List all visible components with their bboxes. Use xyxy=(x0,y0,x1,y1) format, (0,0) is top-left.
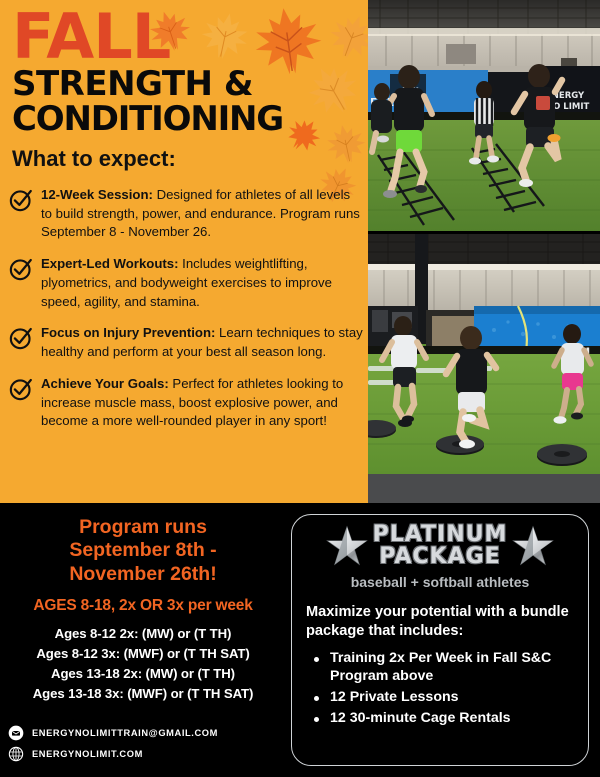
plyometric-plate-drill-photo: ENL xyxy=(368,234,600,505)
title-conditioning: CONDITIONING xyxy=(12,102,368,137)
list-item: Achieve Your Goals: Perfect for athletes… xyxy=(8,375,364,431)
top-section: FALL STRENGTH & CONDITIONING What to exp… xyxy=(0,0,600,503)
schedule-option: Ages 13-18 2x: (MW) or (T TH) xyxy=(4,664,282,684)
platinum-title-line2: PACKAGE xyxy=(373,546,508,568)
list-item: 12 30-minute Cage Rentals xyxy=(310,709,574,727)
schedule-option: Ages 13-18 3x: (MWF) or (T TH SAT) xyxy=(4,684,282,704)
platinum-package-card: PLATINUM PACKAGE baseball + softball ath… xyxy=(291,514,589,766)
list-item-heading: Achieve Your Goals: xyxy=(41,376,169,391)
photo-divider xyxy=(368,231,600,234)
headline-panel: FALL STRENGTH & CONDITIONING What to exp… xyxy=(0,0,368,503)
title-strength: STRENGTH & xyxy=(12,67,368,102)
ages-headline: AGES 8-18, 2x OR 3x per week xyxy=(4,597,282,615)
star-icon xyxy=(511,524,555,568)
check-circle-icon xyxy=(8,376,34,402)
platinum-title: PLATINUM PACKAGE xyxy=(373,524,508,568)
star-icon xyxy=(325,524,369,568)
schedule-option: Ages 8-12 3x: (MWF) or (T TH SAT) xyxy=(4,644,282,664)
photo-column: ENL ENERGY NO LIMIT ENL xyxy=(368,0,600,505)
benefits-list: 12-Week Session: Designed for athletes o… xyxy=(8,186,364,444)
list-item: Training 2x Per Week in Fall S&C Program… xyxy=(310,649,574,685)
check-circle-icon xyxy=(8,187,34,213)
platinum-title-line1: PLATINUM xyxy=(373,524,508,546)
contact-email-row[interactable]: ENERGYNOLIMITTRAIN@GMAIL.COM xyxy=(8,725,284,741)
program-dates: Program runs September 8th - November 26… xyxy=(14,516,272,586)
list-item-heading: 12-Week Session: xyxy=(41,187,153,202)
platinum-header: PLATINUM PACKAGE xyxy=(292,524,588,568)
globe-icon xyxy=(8,746,24,762)
what-to-expect-heading: What to expect: xyxy=(12,146,368,172)
list-item-text: Focus on Injury Prevention: Learn techni… xyxy=(41,324,364,361)
platinum-lead-text: Maximize your potential with a bundle pa… xyxy=(306,603,574,642)
platinum-subtitle: baseball + softball athletes xyxy=(292,574,588,590)
check-circle-icon xyxy=(8,256,34,282)
list-item-heading: Expert-Led Workouts: xyxy=(41,256,179,271)
list-item-text: Expert-Led Workouts: Includes weightlift… xyxy=(41,255,364,311)
schedule-options: Ages 8-12 2x: (MW) or (T TH) Ages 8-12 3… xyxy=(4,624,282,704)
contact-email-text: ENERGYNOLIMITTRAIN@GMAIL.COM xyxy=(32,728,218,738)
contact-website-text: ENERGYNOLIMIT.COM xyxy=(32,749,143,759)
contact-website-row[interactable]: ENERGYNOLIMIT.COM xyxy=(8,746,284,762)
schedule-option: Ages 8-12 2x: (MW) or (T TH) xyxy=(4,624,282,644)
page-title: FALL STRENGTH & CONDITIONING What to exp… xyxy=(12,8,368,172)
platinum-includes-list: Training 2x Per Week in Fall S&C Program… xyxy=(306,649,574,728)
contact-block: ENERGYNOLIMITTRAIN@GMAIL.COM ENERGYNOLIM… xyxy=(8,725,284,767)
schedule-panel: Program runs September 8th - November 26… xyxy=(0,503,286,777)
bottom-section: Program runs September 8th - November 26… xyxy=(0,503,600,777)
list-item: 12-Week Session: Designed for athletes o… xyxy=(8,186,364,242)
list-item: 12 Private Lessons xyxy=(310,688,574,706)
list-item: Expert-Led Workouts: Includes weightlift… xyxy=(8,255,364,311)
platinum-body: Maximize your potential with a bundle pa… xyxy=(306,603,574,727)
list-item-text: Achieve Your Goals: Perfect for athletes… xyxy=(41,375,364,431)
title-fall: FALL xyxy=(12,8,368,65)
fall-strength-conditioning-flyer: FALL STRENGTH & CONDITIONING What to exp… xyxy=(0,0,600,777)
agility-ladder-training-photo: ENL ENERGY NO LIMIT ENL xyxy=(368,0,600,231)
list-item-text: 12-Week Session: Designed for athletes o… xyxy=(41,186,364,242)
list-item: Focus on Injury Prevention: Learn techni… xyxy=(8,324,364,361)
check-circle-icon xyxy=(8,325,34,351)
list-item-heading: Focus on Injury Prevention: xyxy=(41,325,215,340)
email-icon xyxy=(8,725,24,741)
